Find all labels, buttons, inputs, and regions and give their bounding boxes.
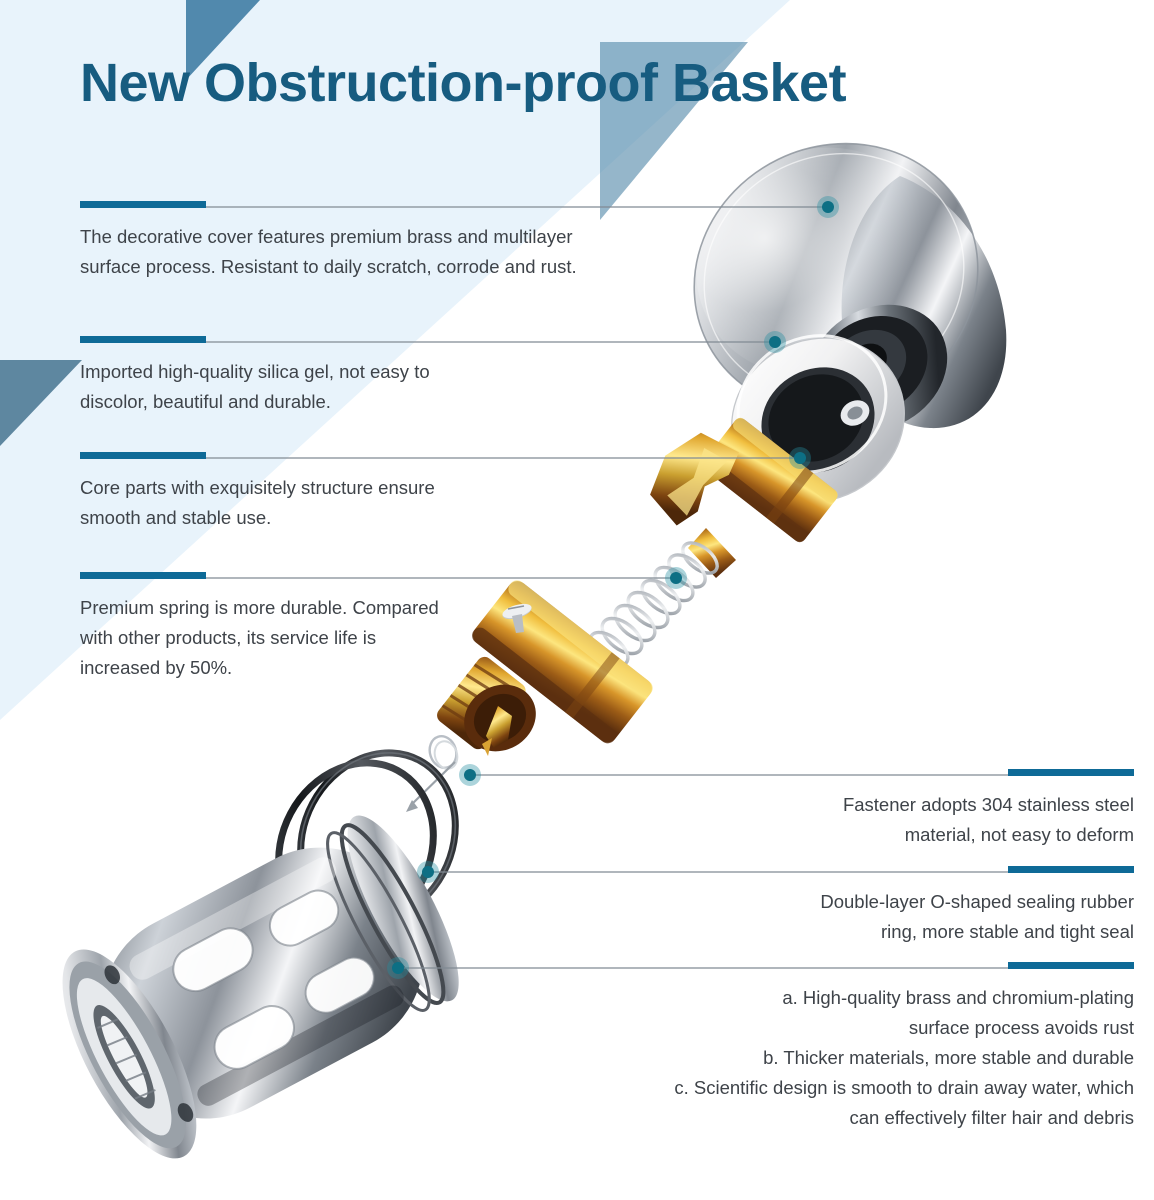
callout-text: The decorative cover features premium br… <box>80 222 680 282</box>
callout-line: Imported high-quality silica gel, not ea… <box>80 357 640 387</box>
callout-text: Double-layer O-shaped sealing rubber rin… <box>514 887 1134 947</box>
callout-rule <box>474 961 1134 969</box>
callout-text: Premium spring is more durable. Compared… <box>80 593 600 683</box>
accent-bar <box>1008 769 1134 776</box>
callout-text: Core parts with exquisitely structure en… <box>80 473 640 533</box>
callout-rule <box>80 200 680 208</box>
callout-core-parts: Core parts with exquisitely structure en… <box>80 451 640 533</box>
callout-line: Premium spring is more durable. Compared <box>80 593 600 623</box>
dot-core <box>392 962 404 974</box>
callout-line: with other products, its service life is <box>80 623 600 653</box>
callout-line: Fastener adopts 304 stainless steel <box>514 790 1134 820</box>
callout-rule <box>80 571 600 579</box>
dot-core <box>422 866 434 878</box>
accent-bar <box>80 336 206 343</box>
callout-rule <box>514 865 1134 873</box>
callout-basket-body: a. High-quality brass and chromium-plati… <box>474 961 1134 1133</box>
callout-line: b. Thicker materials, more stable and du… <box>474 1043 1134 1073</box>
callout-line: smooth and stable use. <box>80 503 640 533</box>
accent-bar <box>80 201 206 208</box>
callout-line: ring, more stable and tight seal <box>514 917 1134 947</box>
dot-core <box>769 336 781 348</box>
callout-line: surface process. Resistant to daily scra… <box>80 252 680 282</box>
callout-text: Fastener adopts 304 stainless steel mate… <box>514 790 1134 850</box>
callout-rule <box>80 451 640 459</box>
callout-rule <box>514 768 1134 776</box>
callout-silica-gel: Imported high-quality silica gel, not ea… <box>80 335 640 417</box>
accent-bar <box>80 572 206 579</box>
accent-bar <box>1008 962 1134 969</box>
callout-premium-spring: Premium spring is more durable. Compared… <box>80 571 600 683</box>
callout-line: Core parts with exquisitely structure en… <box>80 473 640 503</box>
callout-line: discolor, beautiful and durable. <box>80 387 640 417</box>
callout-sealing-ring: Double-layer O-shaped sealing rubber rin… <box>514 865 1134 947</box>
callout-fastener: Fastener adopts 304 stainless steel mate… <box>514 768 1134 850</box>
dot-core <box>822 201 834 213</box>
page-title: New Obstruction-proof Basket <box>80 52 846 114</box>
dot-core <box>464 769 476 781</box>
accent-bar <box>80 452 206 459</box>
callout-decorative-cover: The decorative cover features premium br… <box>80 200 680 282</box>
callout-line: increased by 50%. <box>80 653 600 683</box>
callout-text: Imported high-quality silica gel, not ea… <box>80 357 640 417</box>
dot-core <box>670 572 682 584</box>
callout-line: can effectively filter hair and debris <box>474 1103 1134 1133</box>
infographic-canvas: New Obstruction-proof Basket The decorat… <box>0 0 1154 1200</box>
callout-line: c. Scientific design is smooth to drain … <box>474 1073 1134 1103</box>
callout-text: a. High-quality brass and chromium-plati… <box>474 983 1134 1133</box>
callout-rule <box>80 335 640 343</box>
accent-bar <box>1008 866 1134 873</box>
dot-core <box>794 452 806 464</box>
callout-line: surface process avoids rust <box>474 1013 1134 1043</box>
callout-line: Double-layer O-shaped sealing rubber <box>514 887 1134 917</box>
callout-line: material, not easy to deform <box>514 820 1134 850</box>
callout-line: The decorative cover features premium br… <box>80 222 680 252</box>
callout-line: a. High-quality brass and chromium-plati… <box>474 983 1134 1013</box>
